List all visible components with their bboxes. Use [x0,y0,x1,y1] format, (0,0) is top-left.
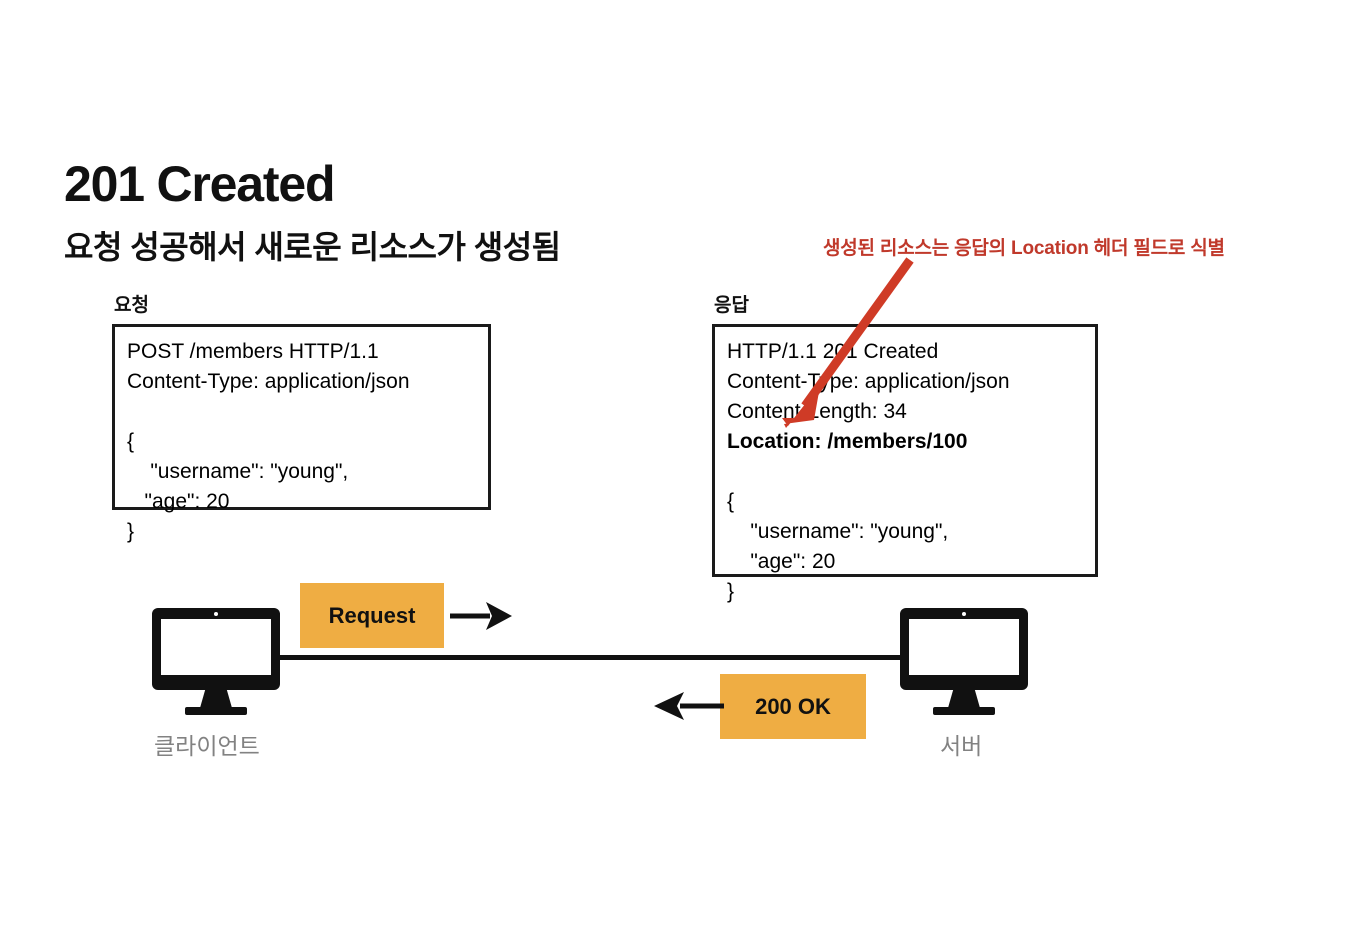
monitor-screen [161,619,271,675]
response-pill-label: 200 OK [755,694,831,720]
request-line: } [127,517,476,547]
arrow-right-icon [448,598,518,634]
response-line: "username": "young", [727,517,1083,547]
server-label: 서버 [940,727,982,761]
response-line: Content-Type: application/json [727,367,1083,397]
request-line: Content-Type: application/json [127,367,476,397]
arrow-left-icon [648,688,726,724]
request-line-blank [127,397,476,427]
monitor-camera-dot [962,612,966,616]
request-pill-label: Request [329,603,416,629]
monitor-stand-base [185,707,247,715]
response-location-header: Location: /members/100 [727,427,1083,457]
request-caption: 요청 [114,290,149,317]
response-line: HTTP/1.1 201 Created [727,337,1083,367]
request-line: { [127,427,476,457]
request-line: "username": "young", [127,457,476,487]
monitor-stand-neck [200,690,232,708]
monitor-screen [909,619,1019,675]
request-line: "age": 20 [127,487,476,517]
monitor-icon [152,608,280,714]
request-message-box: POST /members HTTP/1.1 Content-Type: app… [112,324,491,510]
response-line: Content-Length: 34 [727,397,1083,427]
page-title: 201 Created [64,158,334,211]
slide-canvas: 201 Created 요청 성공해서 새로운 리소스가 생성됨 요청 POST… [0,0,1350,950]
request-line: POST /members HTTP/1.1 [127,337,476,367]
response-line-blank [727,457,1083,487]
request-pill: Request [300,583,444,648]
response-line: "age": 20 [727,547,1083,577]
connection-line [276,655,902,660]
response-pill: 200 OK [720,674,866,739]
monitor-camera-dot [214,612,218,616]
annotation-text: 생성된 리소스는 응답의 Location 헤더 필드로 식별 [823,233,1225,260]
monitor-stand-neck [948,690,980,708]
response-line: { [727,487,1083,517]
page-subtitle: 요청 성공해서 새로운 리소스가 생성됨 [64,228,561,266]
client-label: 클라이언트 [154,727,260,761]
monitor-stand-base [933,707,995,715]
response-line: } [727,577,1083,607]
response-message-box: HTTP/1.1 201 Created Content-Type: appli… [712,324,1098,577]
response-caption: 응답 [714,290,749,317]
monitor-icon [900,608,1028,714]
